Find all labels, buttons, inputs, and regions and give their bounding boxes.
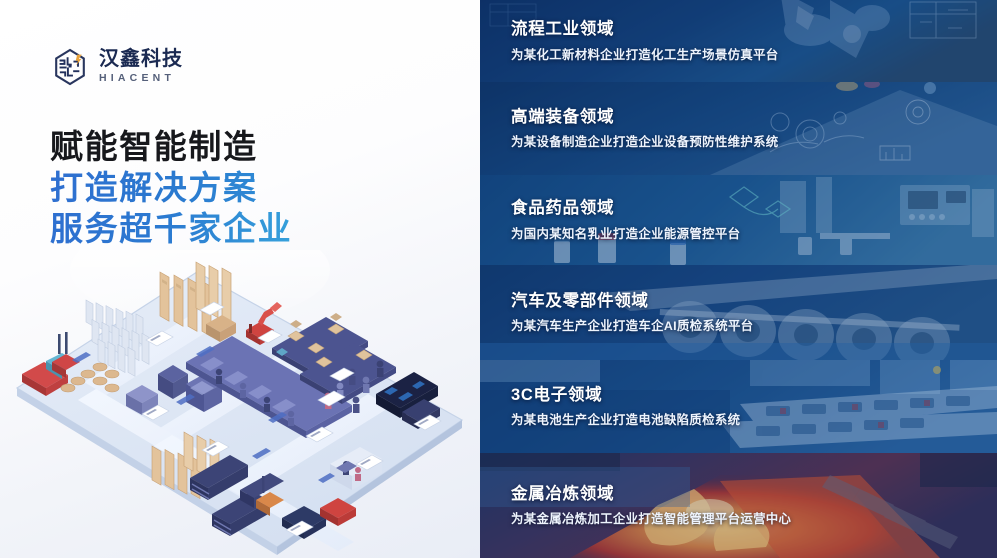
sector-desc-2: 为国内某知名乳业打造企业能源管控平台 <box>511 226 997 242</box>
slide-root: 汉鑫科技 HIACENT 赋能智能制造 打造解决方案 服务超千家企业 <box>0 0 997 558</box>
sector-title-2: 食品药品领域 <box>511 198 997 219</box>
sector-text-5: 金属冶炼领域 为某金属冶炼加工企业打造智能管理平台运营中心 <box>480 484 997 528</box>
brand-logo[interactable]: 汉鑫科技 HIACENT <box>50 46 183 88</box>
headline-line-1: 赋能智能制造 <box>50 126 292 167</box>
page-title: 赋能智能制造 打造解决方案 服务超千家企业 <box>50 126 292 249</box>
sectors-panel: 流程工业领域 为某化工新材料企业打造化工生产场景仿真平台 <box>480 0 997 558</box>
sector-band-automotive[interactable]: 汽车及零部件领域 为某汽车生产企业打造车企AI质检系统平台 <box>480 265 997 360</box>
brand-wordmark: 汉鑫科技 HIACENT <box>99 49 183 85</box>
sector-text-4: 3C电子领域 为某电池生产企业打造电池缺陷质检系统 <box>480 385 997 429</box>
sector-band-food-pharma[interactable]: 食品药品领域 为国内某知名乳业打造企业能源管控平台 <box>480 175 997 265</box>
sector-desc-4: 为某电池生产企业打造电池缺陷质检系统 <box>511 412 997 428</box>
isometric-factory-illustration <box>0 250 480 558</box>
sector-desc-0: 为某化工新材料企业打造化工生产场景仿真平台 <box>511 47 997 63</box>
sector-text-0: 流程工业领域 为某化工新材料企业打造化工生产场景仿真平台 <box>480 19 997 63</box>
sector-band-process-industry[interactable]: 流程工业领域 为某化工新材料企业打造化工生产场景仿真平台 <box>480 0 997 82</box>
sector-desc-5: 为某金属冶炼加工企业打造智能管理平台运营中心 <box>511 511 997 527</box>
left-panel: 汉鑫科技 HIACENT 赋能智能制造 打造解决方案 服务超千家企业 <box>0 0 480 558</box>
hexagon-tech-icon <box>50 46 90 88</box>
sector-band-3c-electronics[interactable]: 3C电子领域 为某电池生产企业打造电池缺陷质检系统 <box>480 360 997 453</box>
sector-title-4: 3C电子领域 <box>511 385 997 406</box>
sector-band-high-end-equipment[interactable]: 高端装备领域 为某设备制造企业打造企业设备预防性维护系统 <box>480 82 997 175</box>
sector-desc-3: 为某汽车生产企业打造车企AI质检系统平台 <box>511 318 997 334</box>
brand-name-cn: 汉鑫科技 <box>99 49 183 71</box>
sector-title-3: 汽车及零部件领域 <box>511 291 997 312</box>
sector-text-2: 食品药品领域 为国内某知名乳业打造企业能源管控平台 <box>480 198 997 242</box>
sector-title-0: 流程工业领域 <box>511 19 997 40</box>
headline-line-3: 服务超千家企业 <box>50 208 292 249</box>
sector-title-5: 金属冶炼领域 <box>511 484 997 505</box>
sector-text-1: 高端装备领域 为某设备制造企业打造企业设备预防性维护系统 <box>480 107 997 151</box>
sector-desc-1: 为某设备制造企业打造企业设备预防性维护系统 <box>511 134 997 150</box>
headline-line-2: 打造解决方案 <box>50 167 292 208</box>
sector-band-metallurgy[interactable]: 金属冶炼领域 为某金属冶炼加工企业打造智能管理平台运营中心 <box>480 453 997 558</box>
brand-name-en: HIACENT <box>99 72 183 85</box>
sector-title-1: 高端装备领域 <box>511 107 997 128</box>
sector-text-3: 汽车及零部件领域 为某汽车生产企业打造车企AI质检系统平台 <box>480 291 997 335</box>
